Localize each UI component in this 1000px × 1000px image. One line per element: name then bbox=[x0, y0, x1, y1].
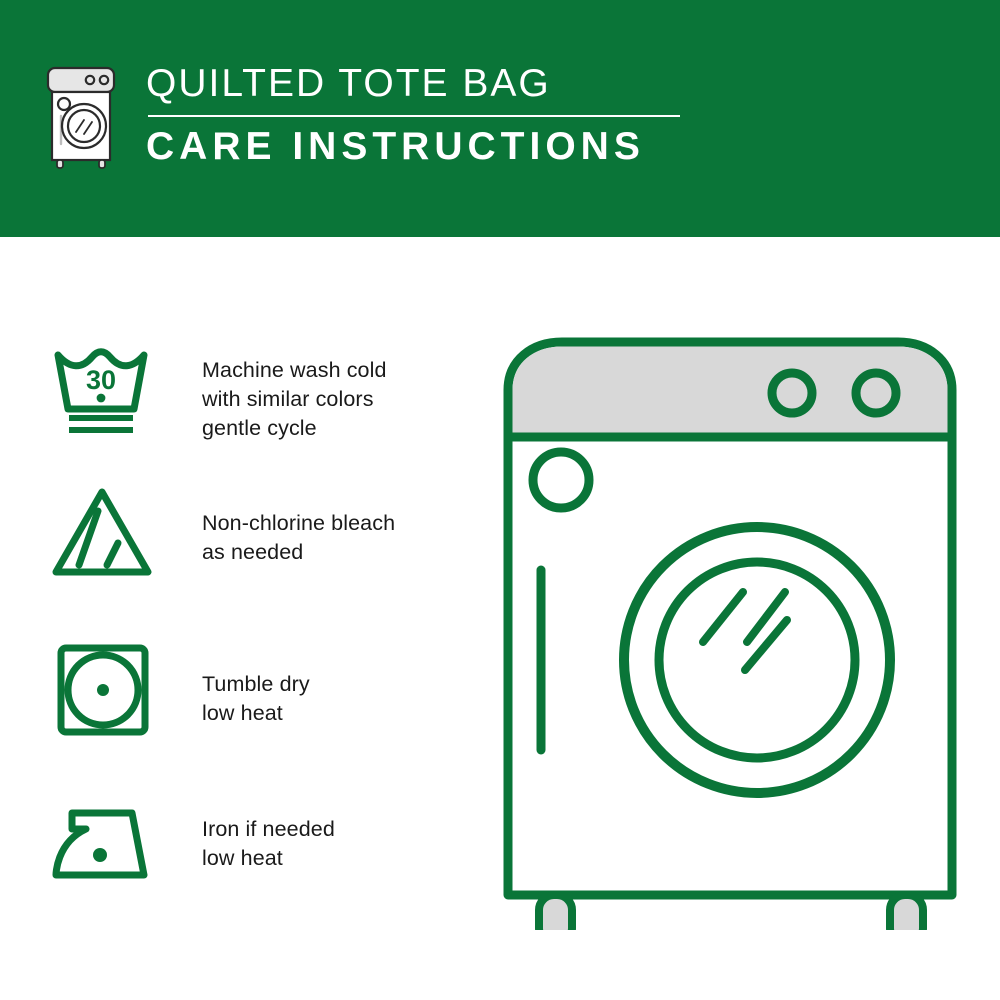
care-text-tumble-dry: Tumble dry low heat bbox=[202, 635, 310, 728]
leg-left bbox=[539, 895, 572, 930]
washing-machine-icon bbox=[44, 66, 118, 170]
care-text-line: Iron if needed bbox=[202, 815, 335, 844]
header-band: QUILTED TOTE BAG CARE INSTRUCTIONS bbox=[0, 0, 1000, 237]
title-divider bbox=[148, 115, 680, 117]
care-text-line: with similar colors bbox=[202, 385, 387, 414]
care-text-bleach: Non-chlorine bleach as needed bbox=[202, 477, 395, 567]
iron-low-heat-icon bbox=[48, 787, 160, 891]
wash-tub-30-gentle-icon: 30 bbox=[48, 335, 160, 439]
care-row-iron: Iron if needed low heat bbox=[48, 787, 488, 891]
care-row-tumble-dry: Tumble dry low heat bbox=[48, 635, 488, 739]
bleach-triangle-non-chlorine-icon bbox=[48, 477, 160, 581]
care-text-line: as needed bbox=[202, 538, 395, 567]
care-instructions-infographic: QUILTED TOTE BAG CARE INSTRUCTIONS 30 bbox=[0, 0, 1000, 1000]
care-text-line: low heat bbox=[202, 844, 335, 873]
care-text-line: Non-chlorine bleach bbox=[202, 509, 395, 538]
care-text-line: Tumble dry bbox=[202, 670, 310, 699]
care-text-iron: Iron if needed low heat bbox=[202, 787, 335, 873]
tumble-dry-low-heat-icon bbox=[48, 635, 160, 739]
care-text-machine-wash: Machine wash cold with similar colors ge… bbox=[202, 335, 387, 443]
care-text-line: gentle cycle bbox=[202, 414, 387, 443]
care-instruction-list: 30 Machine wash cold with similar colors… bbox=[0, 237, 500, 1000]
care-row-bleach: Non-chlorine bleach as needed bbox=[48, 477, 488, 581]
front-load-washing-machine-illustration bbox=[495, 330, 965, 930]
header-titles: QUILTED TOTE BAG CARE INSTRUCTIONS bbox=[146, 62, 680, 169]
header-content: QUILTED TOTE BAG CARE INSTRUCTIONS bbox=[44, 62, 680, 170]
care-row-machine-wash: 30 Machine wash cold with similar colors… bbox=[48, 335, 488, 443]
leg-right bbox=[890, 895, 923, 930]
wash-temperature-label: 30 bbox=[86, 365, 116, 395]
page-title: CARE INSTRUCTIONS bbox=[146, 125, 680, 169]
product-title: QUILTED TOTE BAG bbox=[146, 62, 680, 106]
care-text-line: Machine wash cold bbox=[202, 356, 387, 385]
control-panel bbox=[513, 347, 948, 437]
care-text-line: low heat bbox=[202, 699, 310, 728]
